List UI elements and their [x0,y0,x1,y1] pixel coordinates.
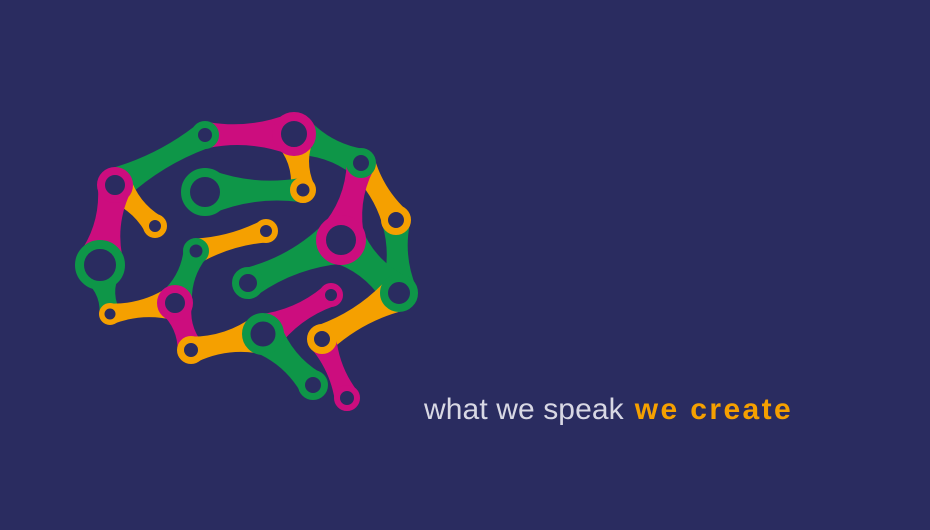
logo-canvas: what we speak we create [0,0,930,530]
brain-network-svg [55,95,455,440]
brain-network-logo [55,95,455,440]
tagline-accent-text: we create [635,393,793,427]
tagline-light-text: what we speak [424,393,624,427]
tagline: what we speak we create [424,390,793,430]
